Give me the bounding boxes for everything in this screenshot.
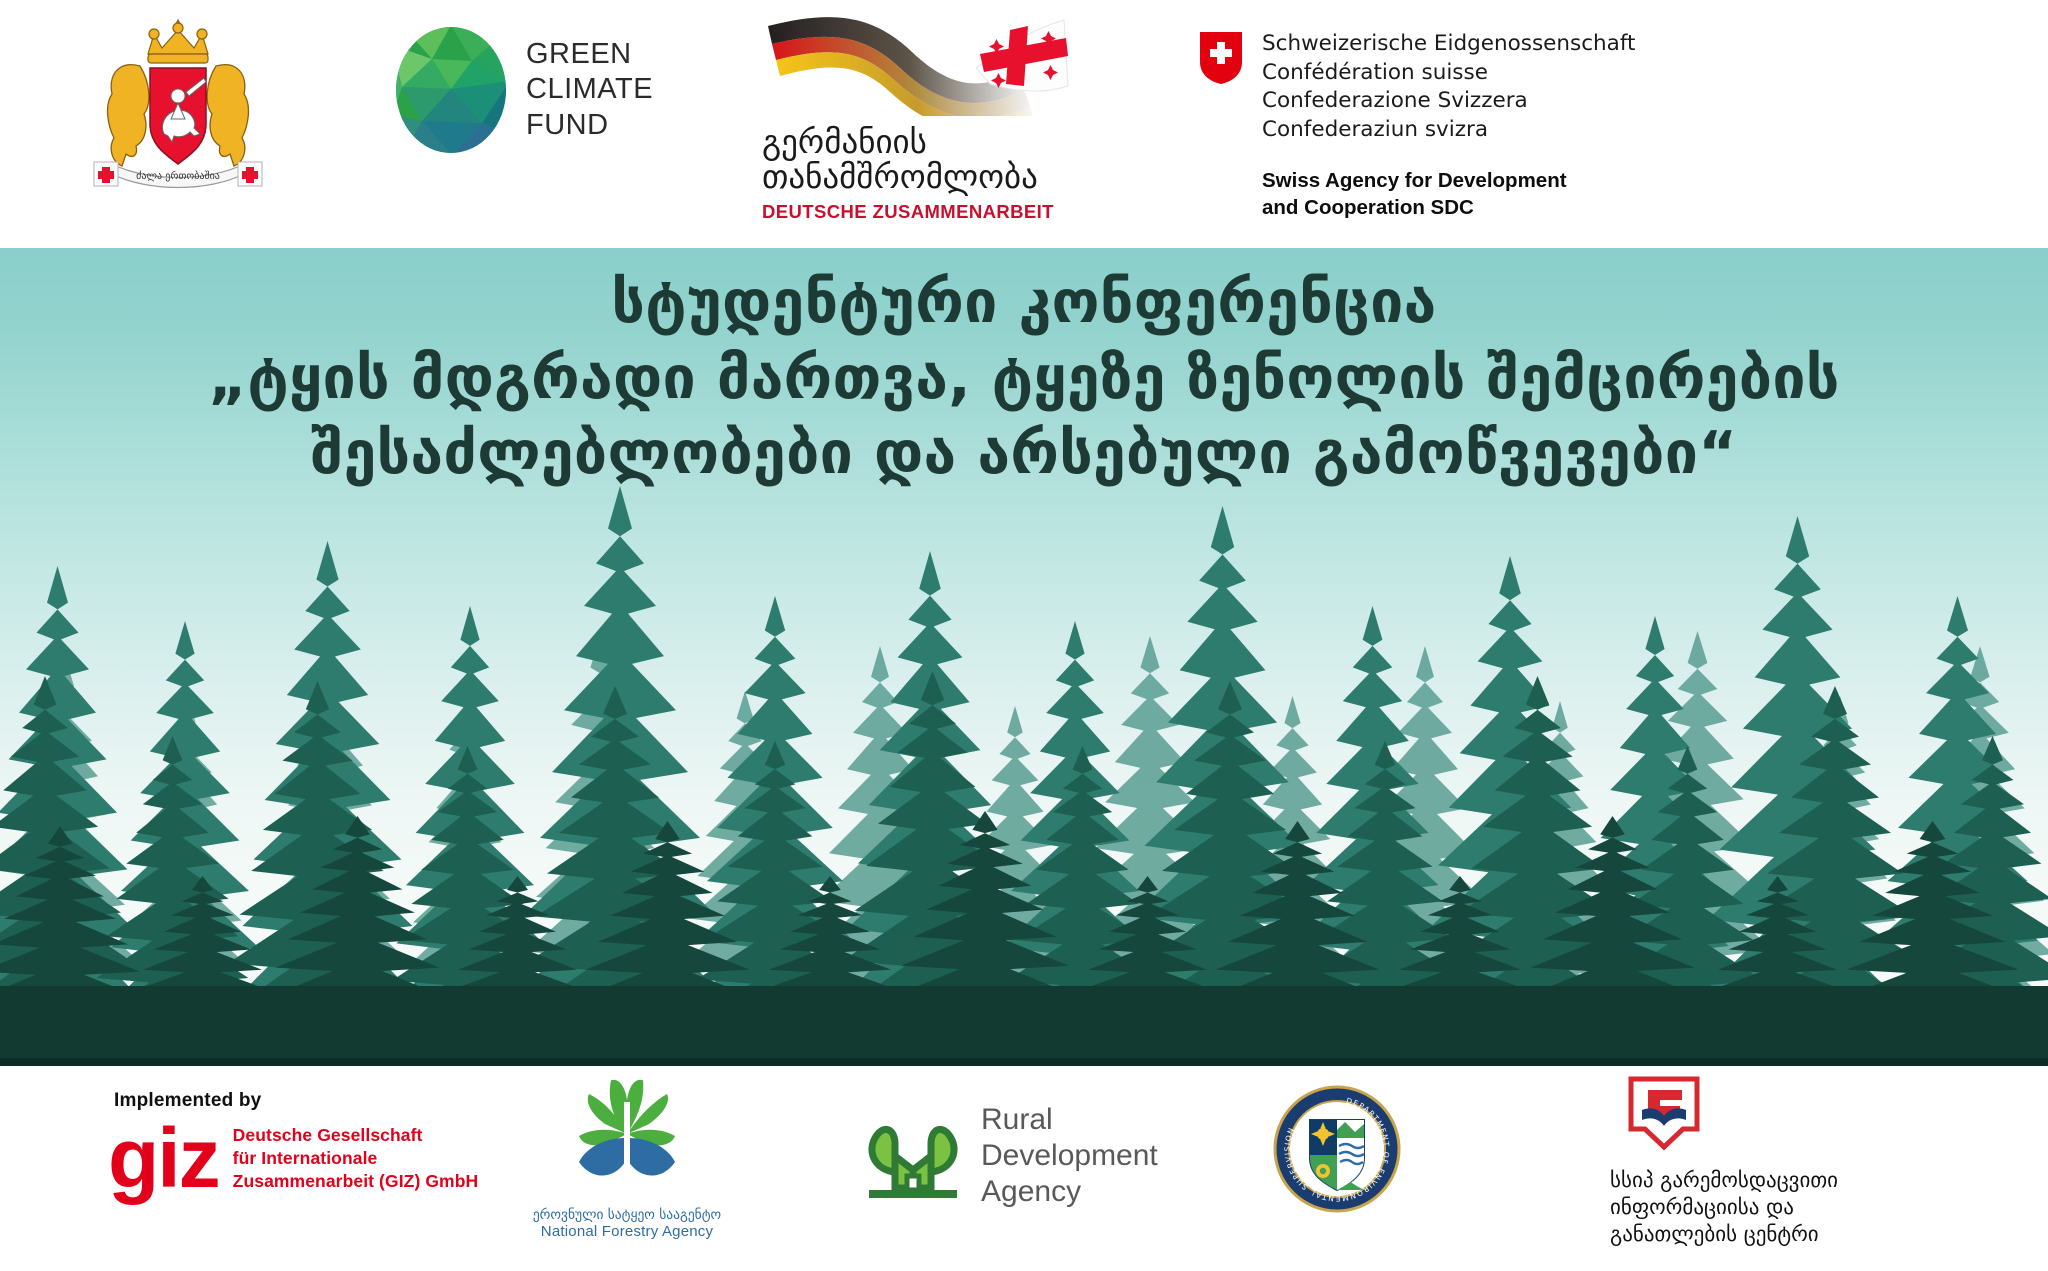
- gcf-line-1: GREEN: [526, 37, 653, 72]
- department-environmental-supervision-logo: DEPARTMENT OF ENVIRONMENTAL SUPERVISION: [1272, 1084, 1402, 1214]
- title-line-3: შესაძლებლობები და არსებული გამოწვევები“: [0, 415, 2048, 491]
- gcf-line-3: FUND: [526, 108, 653, 143]
- rda-line-2: Development: [981, 1138, 1158, 1174]
- giz-sub-line-1: Deutsche Gesellschaft: [233, 1124, 479, 1147]
- header-logo-band: ძალა ერთობაშია: [0, 0, 2048, 248]
- swiss-shield-icon: [1198, 30, 1244, 86]
- rda-line-3: Agency: [981, 1174, 1158, 1210]
- forest-floor-shadow: [0, 1058, 2048, 1066]
- eiec-line-2: ინფორმაციისა და: [1610, 1194, 1940, 1221]
- hero-section: სტუდენტური კონფერენცია „ტყის მდგრადი მარ…: [0, 248, 2048, 1066]
- deutsche-zusammenarbeit-label: DEUTSCHE ZUSAMMENARBEIT: [762, 201, 1072, 223]
- conference-banner: ძალა ერთობაშია: [0, 0, 2048, 1271]
- german-cooperation-ka-line-1: გერმანიის: [762, 125, 1072, 160]
- rda-trees-house-icon: [865, 1110, 961, 1202]
- nfa-en-label: National Forestry Agency: [527, 1223, 727, 1240]
- sdc-line-1: Swiss Agency for Development: [1262, 168, 1635, 195]
- swiss-names: Schweizerische Eidgenossenschaft Confédé…: [1262, 30, 1635, 144]
- title-line-1: სტუდენტური კონფერენცია: [0, 264, 2048, 340]
- title-line-2: „ტყის მდგრადი მართვა, ტყეზე ზენოლის შემც…: [0, 340, 2048, 416]
- eiec-ka-label: სსიპ გარემოსდაცვითი ინფორმაციისა და განა…: [1610, 1167, 1940, 1248]
- georgia-coat-of-arms-logo: ძალა ერთობაშია: [78, 14, 278, 192]
- giz-logo: giz Deutsche Gesellschaft für Internatio…: [108, 1124, 478, 1193]
- giz-sub-line-2: für Internationale: [233, 1147, 479, 1170]
- forest-floor: [0, 986, 2048, 1066]
- giz-wordmark: giz: [108, 1124, 219, 1193]
- eiec-book-shield-icon: [1628, 1076, 1700, 1154]
- implemented-by-label: Implemented by: [114, 1090, 261, 1112]
- coat-of-arms-icon: ძალა ერთობაშია: [78, 14, 278, 192]
- footer-logo-band: Implemented by giz Deutsche Gesellschaft…: [0, 1066, 2048, 1271]
- des-seal-icon: DEPARTMENT OF ENVIRONMENTAL SUPERVISION: [1272, 1084, 1402, 1214]
- sdc-agency-name: Swiss Agency for Development and Coopera…: [1262, 168, 1635, 221]
- environmental-info-education-centre-logo: სსიპ გარემოსდაცვითი ინფორმაციისა და განა…: [1610, 1076, 1940, 1248]
- german-cooperation-ka-text: გერმანიის თანამშრომლობა: [762, 125, 1072, 194]
- rda-line-1: Rural: [981, 1102, 1158, 1138]
- nfa-tree-circle-icon: [567, 1076, 687, 1196]
- german-georgian-flag-icon: [762, 8, 1072, 116]
- swiss-name-it: Confederazione Svizzera: [1262, 87, 1635, 116]
- gcf-wordmark: GREEN CLIMATE FUND: [526, 37, 653, 143]
- conference-title: სტუდენტური კონფერენცია „ტყის მდგრადი მარ…: [0, 264, 2048, 491]
- swiss-name-rm: Confederaziun svizra: [1262, 116, 1635, 145]
- coa-motto: ძალა ერთობაშია: [136, 170, 220, 182]
- rda-wordmark: Rural Development Agency: [981, 1102, 1158, 1210]
- eiec-line-1: სსიპ გარემოსდაცვითი: [1610, 1167, 1940, 1194]
- nfa-ka-label: ეროვნული სატყეო სააგენტო: [527, 1207, 727, 1223]
- forest-silhouette-illustration: [0, 446, 2048, 1066]
- giz-sub-line-3: Zusammenarbeit (GIZ) GmbH: [233, 1170, 479, 1193]
- eiec-line-3: განათლების ცენტრი: [1610, 1221, 1940, 1248]
- national-forestry-agency-logo: ეროვნული სატყეო სააგენტო National Forest…: [527, 1076, 727, 1240]
- german-cooperation-ka-line-2: თანამშრომლობა: [762, 160, 1072, 195]
- swiss-name-de: Schweizerische Eidgenossenschaft: [1262, 30, 1635, 59]
- german-cooperation-logo: გერმანიის თანამშრომლობა DEUTSCHE ZUSAMME…: [762, 8, 1072, 223]
- gcf-line-2: CLIMATE: [526, 72, 653, 107]
- rural-development-agency-logo: Rural Development Agency: [865, 1102, 1158, 1210]
- giz-subtitle: Deutsche Gesellschaft für Internationale…: [233, 1124, 479, 1193]
- swiss-name-fr: Confédération suisse: [1262, 59, 1635, 88]
- sdc-line-2: and Cooperation SDC: [1262, 195, 1635, 222]
- green-climate-fund-logo: GREEN CLIMATE FUND: [392, 25, 653, 155]
- swiss-sdc-logo: Schweizerische Eidgenossenschaft Confédé…: [1198, 30, 1635, 222]
- gcf-polyhedron-icon: [392, 25, 510, 155]
